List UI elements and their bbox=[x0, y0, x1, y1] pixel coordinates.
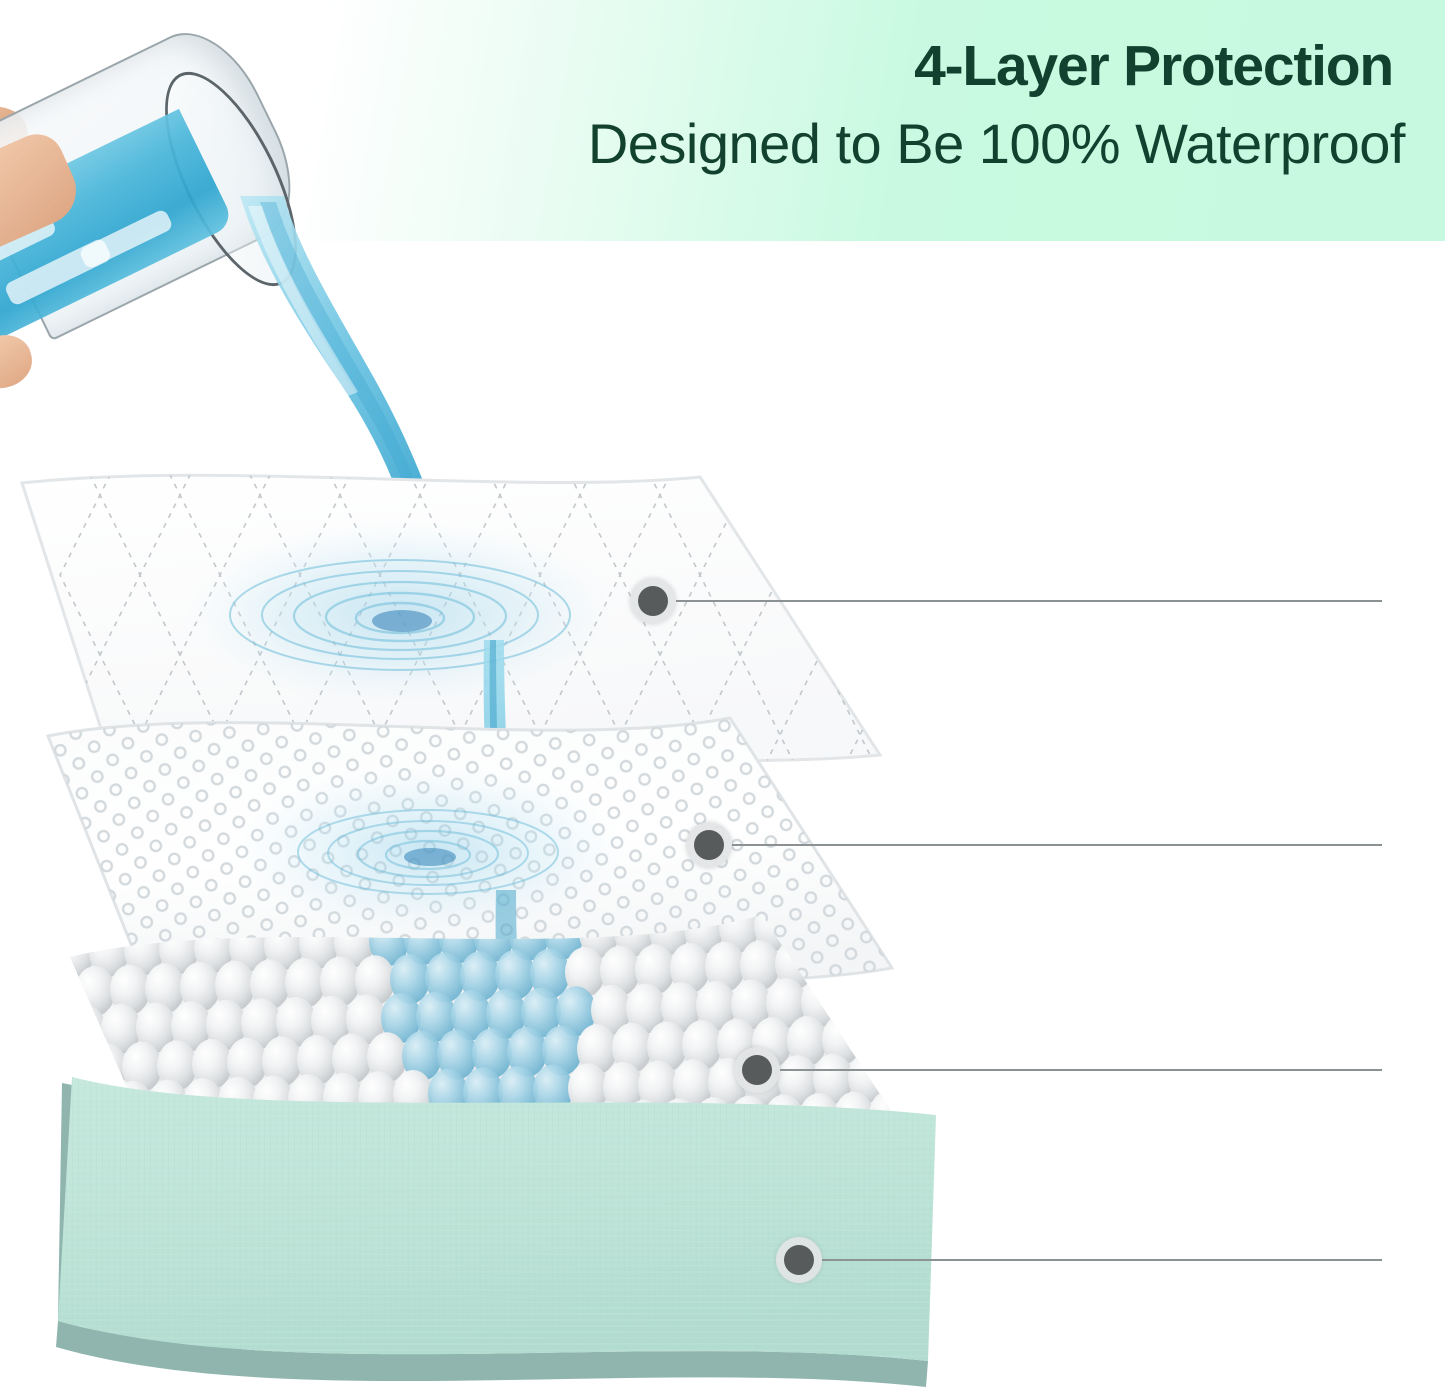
dot-inner-icon bbox=[742, 1055, 772, 1085]
page-subtitle: Designed to Be 100% Waterproof bbox=[588, 116, 1405, 172]
finger-icon bbox=[0, 329, 37, 394]
callout-leader-line bbox=[822, 1259, 1382, 1261]
callout-dot-bottom[interactable] bbox=[776, 1237, 822, 1283]
infographic-canvas: 4-Layer Protection Designed to Be 100% W… bbox=[0, 0, 1445, 1399]
callout-dot-top[interactable] bbox=[630, 578, 676, 624]
bottom-layer-fabric-sheet bbox=[30, 1065, 960, 1399]
callout-leader-line bbox=[780, 1069, 1382, 1071]
callout-leader-line bbox=[676, 600, 1382, 602]
callout-leader-line bbox=[732, 844, 1382, 846]
dot-inner-icon bbox=[638, 586, 668, 616]
page-title: 4-Layer Protection bbox=[914, 38, 1393, 95]
dot-inner-icon bbox=[694, 830, 724, 860]
dot-inner-icon bbox=[784, 1245, 814, 1275]
callout-dot-second[interactable] bbox=[686, 822, 732, 868]
callout-dot-third[interactable] bbox=[734, 1047, 780, 1093]
